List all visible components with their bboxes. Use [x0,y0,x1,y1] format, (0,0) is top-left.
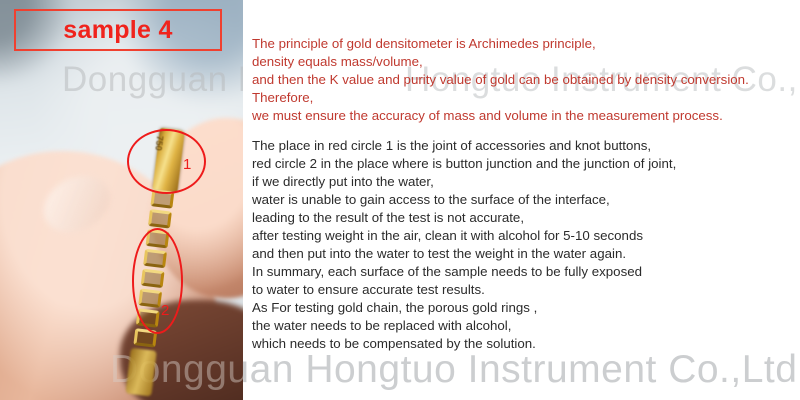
text-line: density equals mass/volume, [252,53,800,71]
description-text-column: The principle of gold densitometer is Ar… [252,0,800,400]
annotation-label-2: 2 [161,303,169,318]
product-info-image: Dongguan Hongtuo Instrument Co.,Ltd Dong… [0,0,800,400]
text-line: leading to the result of the test is not… [252,209,800,227]
text-line: the water needs to be replaced with alco… [252,317,800,335]
sample-label-box: sample 4 [14,9,222,51]
text-line: Therefore, [252,89,800,107]
annotation-ellipse-2 [132,228,183,334]
text-line: which needs to be compensated by the sol… [252,335,800,353]
text-line: As For testing gold chain, the porous go… [252,299,800,317]
sample-label-text: sample 4 [63,16,172,45]
text-line: red circle 2 in the place where is butto… [252,155,800,173]
text-line: water is unable to gain access to the su… [252,191,800,209]
annotation-ellipse-1 [127,129,206,194]
text-line: and then put into the water to test the … [252,245,800,263]
chain-tail [125,348,156,397]
text-line: In summary, each surface of the sample n… [252,263,800,281]
annotation-label-1: 1 [183,157,191,172]
text-line: The place in red circle 1 is the joint o… [252,137,800,155]
paragraph-principle: The principle of gold densitometer is Ar… [252,35,800,125]
text-line: The principle of gold densitometer is Ar… [252,35,800,53]
sample-photo: Dongguan Hongtuo Instrument Co.,Ltd Dong… [0,0,243,400]
chain-link [148,209,172,229]
text-line: and then the K value and purity value of… [252,71,800,89]
text-line: if we directly put into the water, [252,173,800,191]
text-line: after testing weight in the air, clean i… [252,227,800,245]
text-line: we must ensure the accuracy of mass and … [252,107,800,125]
paragraph-instructions: The place in red circle 1 is the joint o… [252,137,800,353]
text-line: to water to ensure accurate test results… [252,281,800,299]
